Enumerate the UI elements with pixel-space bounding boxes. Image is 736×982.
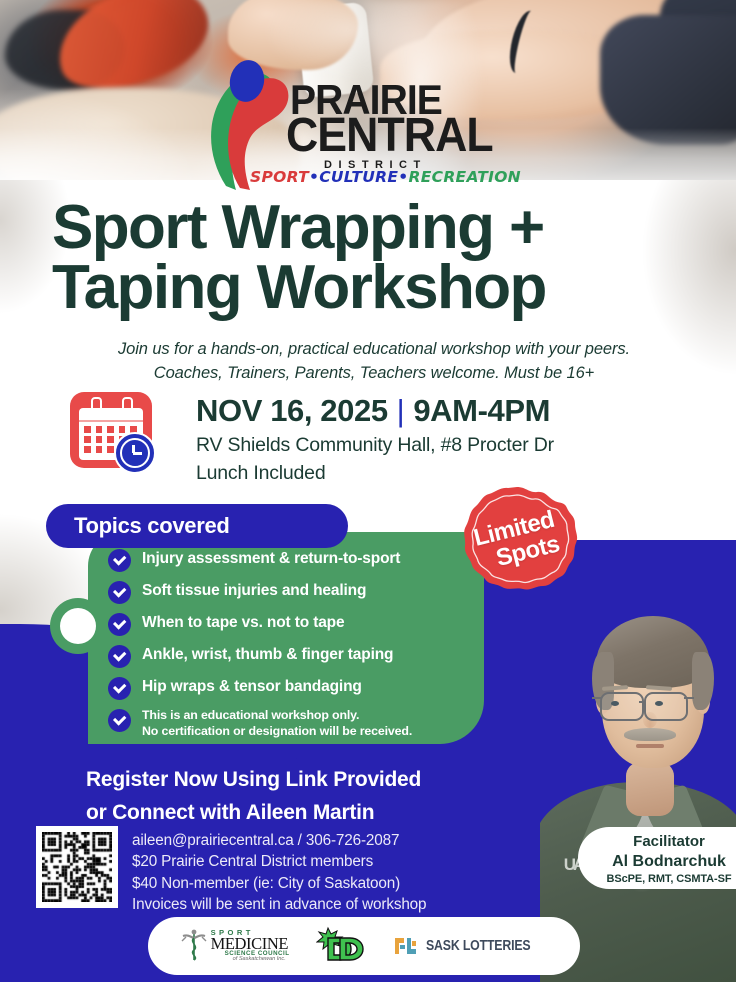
logo-tagline: SPORT•CULTURE•RECREATION [250, 168, 521, 186]
subtitle-line-1: Join us for a hands-on, practical educat… [118, 340, 630, 358]
subtitle-line-2: Coaches, Trainers, Parents, Teachers wel… [44, 362, 704, 386]
tagline-recreation: RECREATION [409, 168, 521, 186]
topics-heading-pill: Topics covered [46, 504, 348, 548]
logo-line-central: CENTRAL [286, 115, 493, 157]
qr-code-icon[interactable] [36, 826, 118, 908]
contact-details: aileen@prairiecentral.ca / 306-726-2087 … [132, 830, 426, 916]
calendar-clock-icon [70, 392, 160, 470]
topics-note-line-1: This is an educational workshop only. [142, 708, 412, 724]
facilitator-label-card: Facilitator Al Bodnarchuk BScPE, RMT, CS… [578, 827, 736, 889]
topics-note: This is an educational workshop only. No… [142, 708, 412, 739]
sport-medicine-logo: SPORT MEDICINE SCIENCE COUNCIL of Saskat… [180, 929, 290, 963]
list-item: When to tape vs. not to tape [108, 612, 508, 636]
poster-subtitle: Join us for a hands-on, practical educat… [44, 338, 704, 386]
sport-medicine-wordmark: SPORT MEDICINE SCIENCE COUNCIL of Saskat… [211, 929, 290, 963]
poster-canvas: PRAIRIE CENTRAL DISTRICT SPORT•CULTURE•R… [0, 0, 736, 982]
tagline-sport: SPORT [250, 168, 309, 186]
sask-lotteries-label: SASK LOTTERIES [426, 938, 530, 954]
contact-email-phone[interactable]: aileen@prairiecentral.ca / 306-726-2087 [132, 830, 426, 851]
check-icon [108, 677, 131, 700]
clock-icon [114, 432, 156, 474]
check-icon [108, 581, 131, 604]
tagline-sep-1: • [309, 168, 319, 186]
sask-lotteries-logo: SASK LOTTERIES [394, 935, 549, 957]
event-venue: RV Shields Community Hall, #8 Procter Dr [196, 434, 554, 457]
invoice-note: Invoices will be sent in advance of work… [132, 894, 426, 915]
tagline-sep-2: • [398, 168, 408, 186]
topics-panel-notch [50, 598, 106, 654]
topic-label: When to tape vs. not to tape [142, 612, 344, 633]
sponsor-line-of-sask: of Saskatchewan Inc. [233, 957, 290, 963]
facilitator-name: Al Bodnarchuk [578, 852, 736, 872]
topic-label: Injury assessment & return-to-sport [142, 548, 400, 569]
register-heading-line-2: or Connect with Aileen Martin [86, 801, 374, 825]
facilitator-role: Facilitator [578, 832, 736, 852]
register-heading-line-1: Register Now Using Link Provided [86, 768, 421, 792]
sponsor-logo-bar: SPORT MEDICINE SCIENCE COUNCIL of Saskat… [148, 917, 580, 975]
caduceus-icon [180, 929, 208, 963]
check-icon [108, 613, 131, 636]
event-date: NOV 16, 2025 [196, 393, 388, 428]
event-time: 9AM-4PM [413, 393, 550, 428]
sask-lotteries-mark-icon [394, 935, 420, 957]
event-lunch-note: Lunch Included [196, 462, 325, 485]
facilitator-credentials: BScPE, RMT, CSMTA-SF [578, 873, 736, 885]
check-icon [108, 709, 131, 732]
topics-heading-label: Topics covered [74, 513, 230, 539]
list-item: Soft tissue injuries and healing [108, 580, 508, 604]
topics-note-line-2: No certification or designation will be … [142, 724, 412, 740]
topic-label: Soft tissue injuries and healing [142, 580, 366, 601]
logo-wordmark: PRAIRIE CENTRAL DISTRICT [290, 82, 508, 171]
ld-logo-icon [316, 926, 368, 966]
topics-list: Injury assessment & return-to-sport Soft… [108, 548, 508, 747]
list-item: Injury assessment & return-to-sport [108, 548, 508, 572]
prairie-central-district-logo: PRAIRIE CENTRAL DISTRICT SPORT•CULTURE•R… [196, 56, 496, 192]
list-item: Hip wraps & tensor bandaging [108, 676, 508, 700]
event-date-separator: | [397, 393, 405, 428]
title-line-2: Taping Workshop [52, 258, 702, 318]
tagline-culture: CULTURE [319, 168, 398, 186]
topic-label: Ankle, wrist, thumb & finger taping [142, 644, 393, 665]
facilitator-photo: UA [540, 556, 736, 982]
list-item: Ankle, wrist, thumb & finger taping [108, 644, 508, 668]
topic-label: Hip wraps & tensor bandaging [142, 676, 362, 697]
check-icon [108, 645, 131, 668]
poster-title: Sport Wrapping + Taping Workshop [52, 198, 702, 317]
event-date-time: NOV 16, 2025|9AM-4PM [196, 393, 550, 429]
price-member: $20 Prairie Central District members [132, 851, 426, 872]
price-nonmember: $40 Non-member (ie: City of Saskatoon) [132, 873, 426, 894]
list-item-note: This is an educational workshop only. No… [108, 708, 508, 739]
title-line-1: Sport Wrapping + [52, 198, 702, 258]
check-icon [108, 549, 131, 572]
